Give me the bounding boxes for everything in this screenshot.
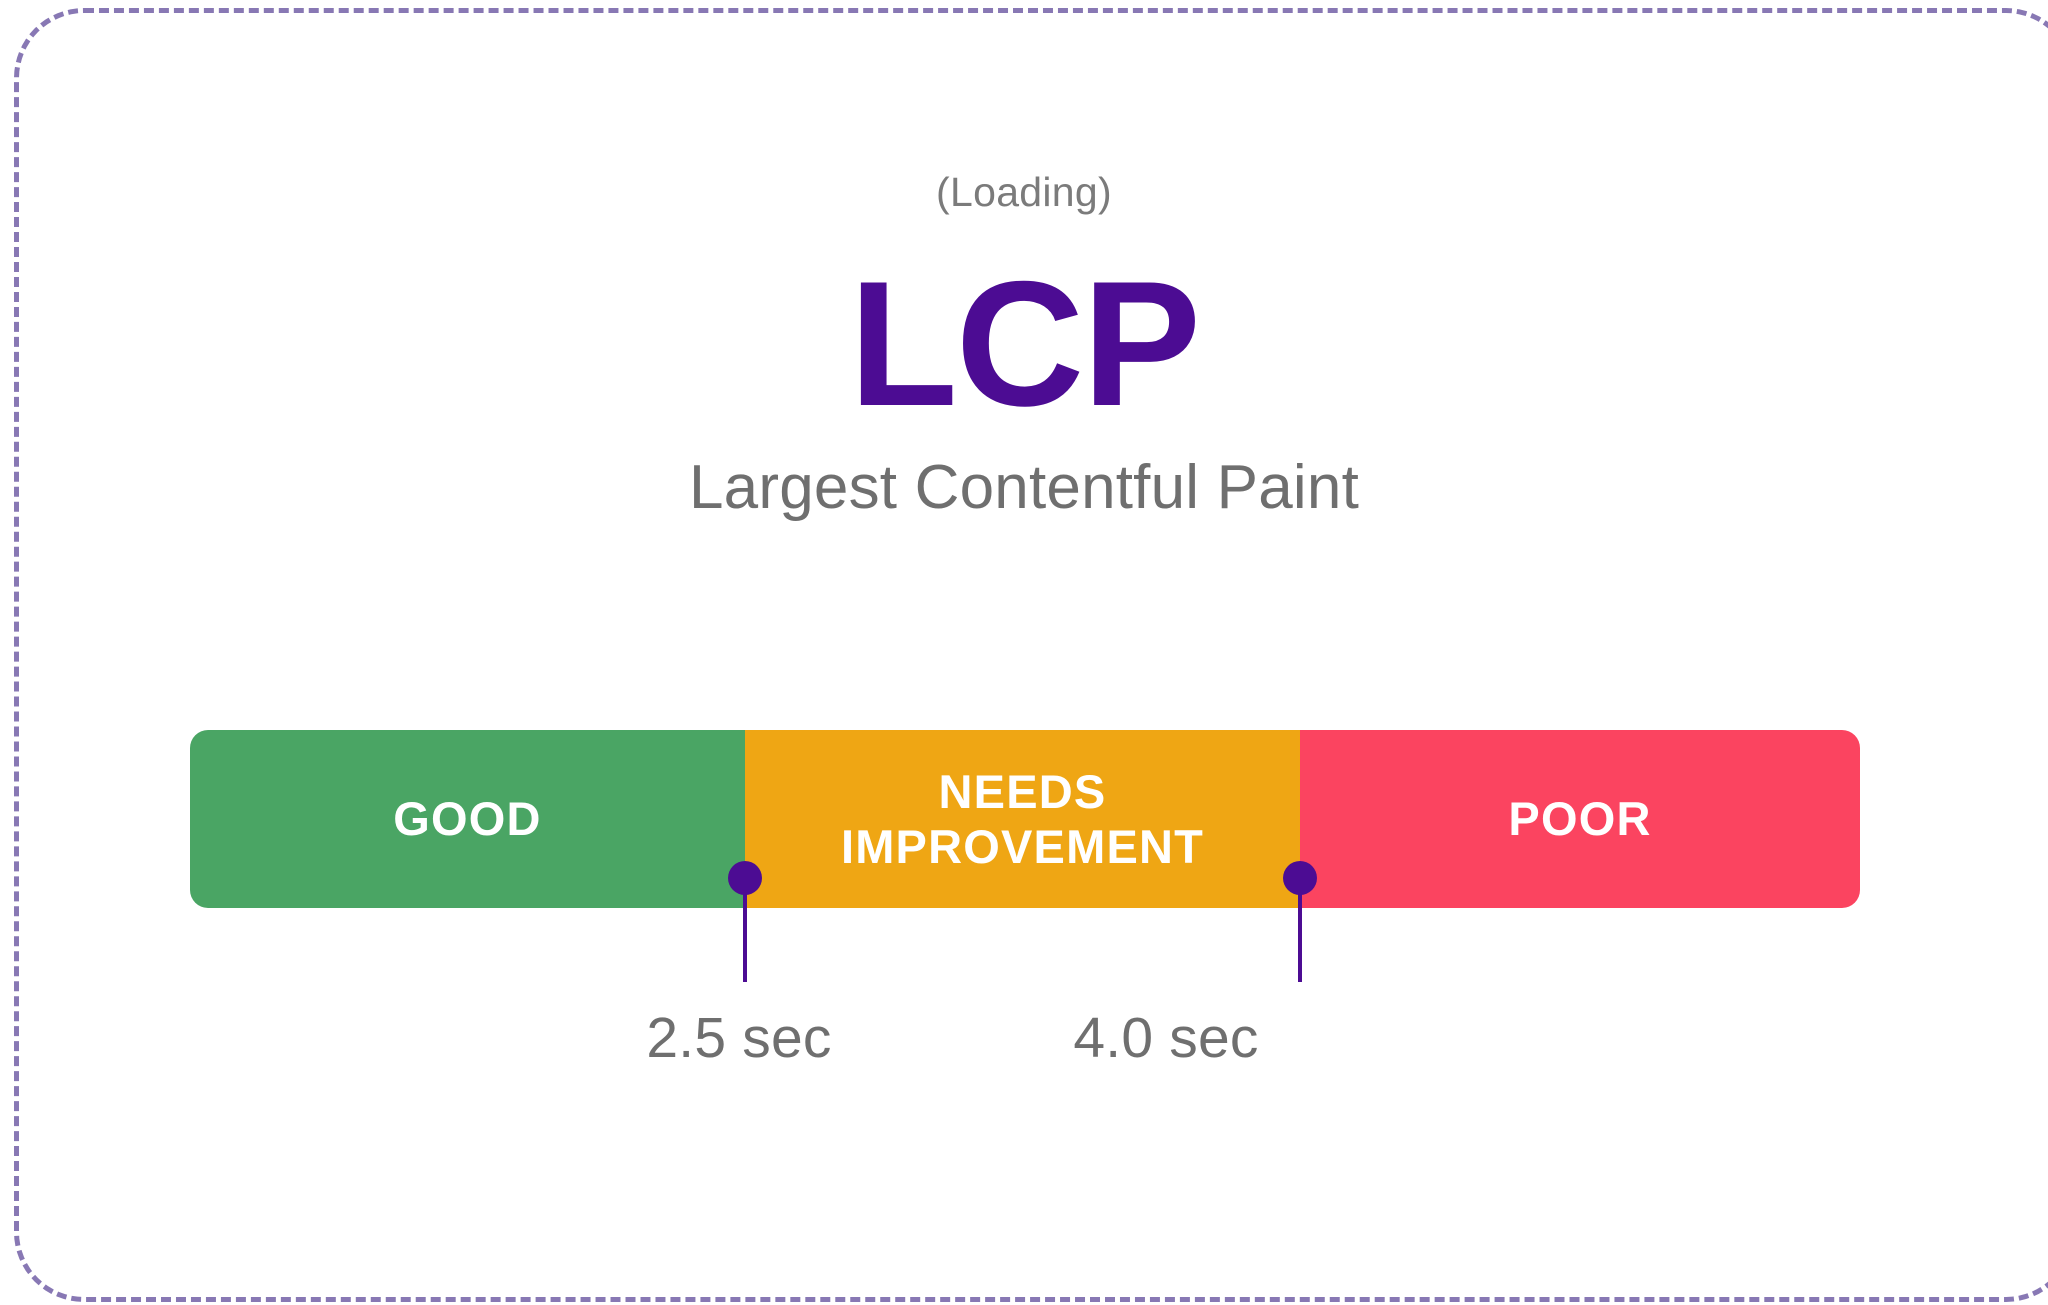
lcp-threshold-diagram: (Loading) LCP Largest Contentful Paint G… — [0, 0, 2048, 1305]
page-title: LCP — [0, 213, 2048, 435]
bar-segment-needs-improvement-label: NEEDS IMPROVEMENT — [841, 764, 1204, 875]
bar-segment-needs-improvement-label-line2: IMPROVEMENT — [841, 819, 1204, 874]
diagram-header: (Loading) LCP Largest Contentful Paint — [0, 0, 2048, 519]
threshold-value-label: 2.5 sec — [569, 1010, 909, 1067]
bar-segment-good: GOOD — [190, 730, 745, 908]
metric-full-name: Largest Contentful Paint — [0, 435, 2048, 519]
bar-segment-poor-label: POOR — [1508, 791, 1651, 846]
bar-segment-good-label: GOOD — [393, 791, 541, 846]
threshold-stem-line — [743, 890, 747, 982]
threshold-bar: GOOD NEEDS IMPROVEMENT POOR — [190, 730, 1860, 908]
bar-segment-poor: POOR — [1300, 730, 1860, 908]
metric-category-label: (Loading) — [0, 0, 2048, 213]
threshold-value-label: 4.0 sec — [996, 1010, 1336, 1067]
threshold-stem-line — [1298, 890, 1302, 982]
bar-segment-needs-improvement-label-line1: NEEDS — [841, 764, 1204, 819]
threshold-bar-container: GOOD NEEDS IMPROVEMENT POOR — [190, 730, 1860, 908]
bar-segment-needs-improvement: NEEDS IMPROVEMENT — [745, 730, 1300, 908]
